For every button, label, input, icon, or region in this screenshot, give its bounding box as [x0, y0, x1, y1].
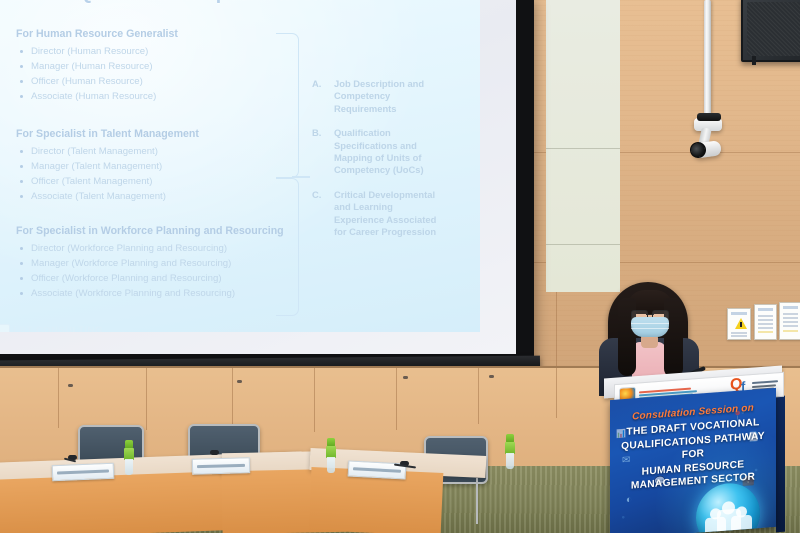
lrt-brand-name: LRT CONSULTING [13, 325, 103, 332]
slide-group-talent-management: For Specialist in Talent Management Dire… [16, 128, 316, 204]
lettered-item-text: Job Description and Competency Requireme… [334, 78, 424, 114]
name-plate [52, 463, 115, 482]
list-item: Officer (Human Resource) [16, 74, 316, 89]
slide-lettered-list: A. Job Description and Competency Requir… [310, 78, 440, 250]
banner-title: THE DRAFT VOCATIONAL QUALIFICATIONS PATH… [615, 415, 771, 494]
warning-triangle-icon [735, 318, 747, 329]
group-list: Director (Talent Management) Manager (Ta… [16, 144, 316, 205]
photograph-scene: Vocational Qualification Specifications … [0, 0, 800, 533]
information-notice-1 [754, 304, 777, 340]
bracket-upper [276, 33, 299, 178]
projection-screen-surface: Vocational Qualification Specifications … [0, 0, 516, 354]
group-list: Director (Human Resource) Manager (Human… [16, 44, 316, 105]
safety-notice-warning [727, 308, 751, 340]
list-item: Manager (Talent Management) [16, 159, 316, 174]
camera-mount-pole [704, 0, 711, 120]
face-mask [631, 317, 669, 337]
list-item: Officer (Talent Management) [16, 174, 316, 189]
lettered-item-text: Qualification Specifications and Mapping… [334, 127, 424, 175]
list-item: Director (Talent Management) [16, 144, 316, 159]
group-heading: For Human Resource Generalist [16, 28, 316, 40]
microphone [210, 450, 219, 455]
bracket-connector [292, 176, 310, 178]
information-notice-2 [779, 302, 800, 340]
wall-speaker-bracket [752, 56, 756, 65]
bracket-lower [276, 178, 299, 316]
lettered-item-marker: C. [312, 189, 321, 201]
pie-chart-icon: ◐ [626, 494, 632, 505]
camera-cable [697, 113, 721, 121]
slide-title: Vocational Qualification Specifications [0, 0, 394, 5]
lettered-item-b: B. Qualification Specifications and Mapp… [310, 127, 440, 177]
lettered-item-marker: B. [312, 127, 321, 139]
podium-banner: ✉ ◐ 💬 💼 📍 📄 📊 Consultation Session on TH… [610, 388, 776, 533]
lettered-item-marker: A. [312, 78, 321, 90]
wall-speaker [741, 0, 800, 62]
presentation-slide: Vocational Qualification Specifications … [0, 0, 480, 332]
list-item: Manager (Human Resource) [16, 59, 316, 74]
list-item: Associate (Human Resource) [16, 89, 316, 104]
list-item: Associate (Talent Management) [16, 189, 316, 204]
group-heading: For Specialist in Talent Management [16, 128, 316, 140]
lettered-item-a: A. Job Description and Competency Requir… [310, 78, 440, 115]
wall-panel-light [546, 0, 620, 292]
lettered-item-text: Critical Developmental and Learning Expe… [334, 189, 436, 237]
lettered-item-c: C. Critical Developmental and Learning E… [310, 189, 440, 239]
projection-screen-frame: Vocational Qualification Specifications … [0, 0, 534, 372]
podium-side-panel [776, 396, 785, 533]
name-plate [192, 457, 250, 475]
list-item: Director (Human Resource) [16, 44, 316, 59]
podium: ✉ ◐ 💬 💼 📍 📄 📊 Consultation Session on TH… [604, 372, 782, 533]
slide-group-hr-generalist: For Human Resource Generalist Director (… [16, 28, 316, 104]
lrt-house-icon [0, 324, 10, 332]
